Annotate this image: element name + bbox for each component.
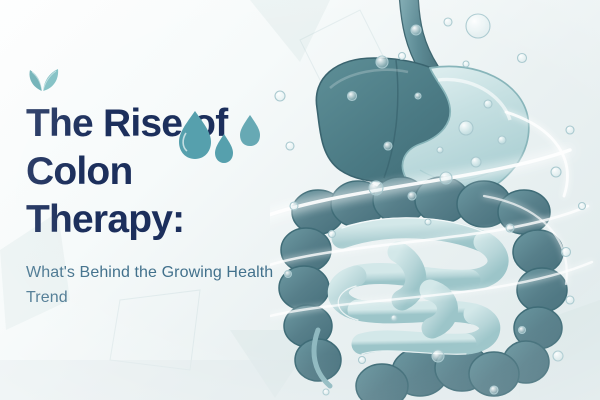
headline-block: The Rise of Colon Therapy: What's Behind… xyxy=(26,62,296,310)
water-droplet-medium-icon xyxy=(215,134,233,163)
small-intestine-part xyxy=(338,228,498,344)
water-droplets-group xyxy=(178,107,268,169)
water-droplet-small-icon xyxy=(240,115,260,146)
headline-line-3: Therapy: xyxy=(26,196,296,244)
digestive-system-illustration xyxy=(270,0,600,400)
poster-canvas: The Rise of Colon Therapy: What's Behind… xyxy=(0,0,600,400)
water-droplet-large-icon xyxy=(179,111,211,159)
page-subtitle: What's Behind the Growing Health Trend xyxy=(26,260,276,310)
leaf-sprout-icon xyxy=(26,62,60,92)
